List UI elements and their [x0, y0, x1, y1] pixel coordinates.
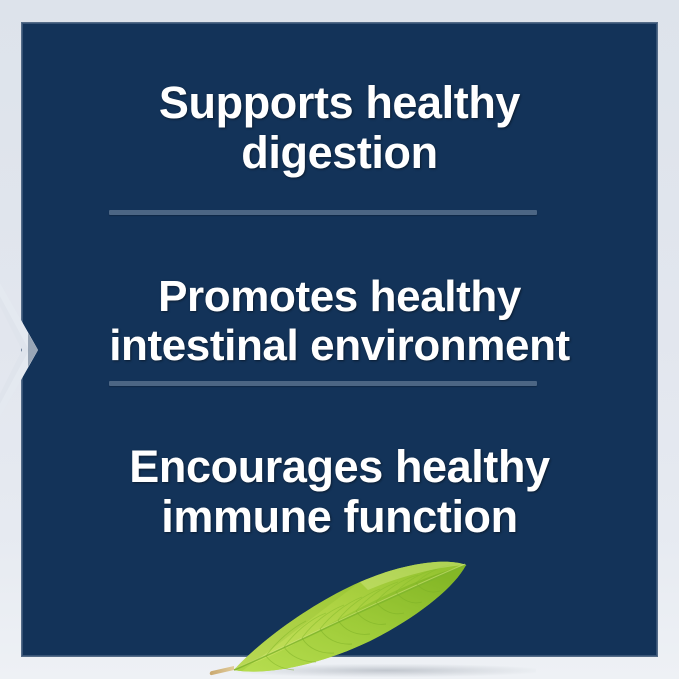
benefit-item-3: Encourages healthy immune function [21, 442, 658, 543]
benefit-1-line-2: digestion [43, 128, 636, 178]
leaf-icon [210, 548, 490, 679]
benefit-item-1: Supports healthy digestion [21, 78, 658, 179]
chevron-right-icon [0, 240, 60, 440]
product-benefits-graphic: Supports healthy digestion Promotes heal… [0, 0, 679, 679]
benefit-1-line-1: Supports healthy [43, 78, 636, 128]
benefit-2-line-1: Promotes healthy [43, 272, 636, 321]
benefit-3-line-1: Encourages healthy [43, 442, 636, 492]
benefit-2-line-2: intestinal environment [43, 321, 636, 370]
benefit-item-2: Promotes healthy intestinal environment [21, 272, 658, 371]
benefit-3-line-2: immune function [43, 492, 636, 542]
